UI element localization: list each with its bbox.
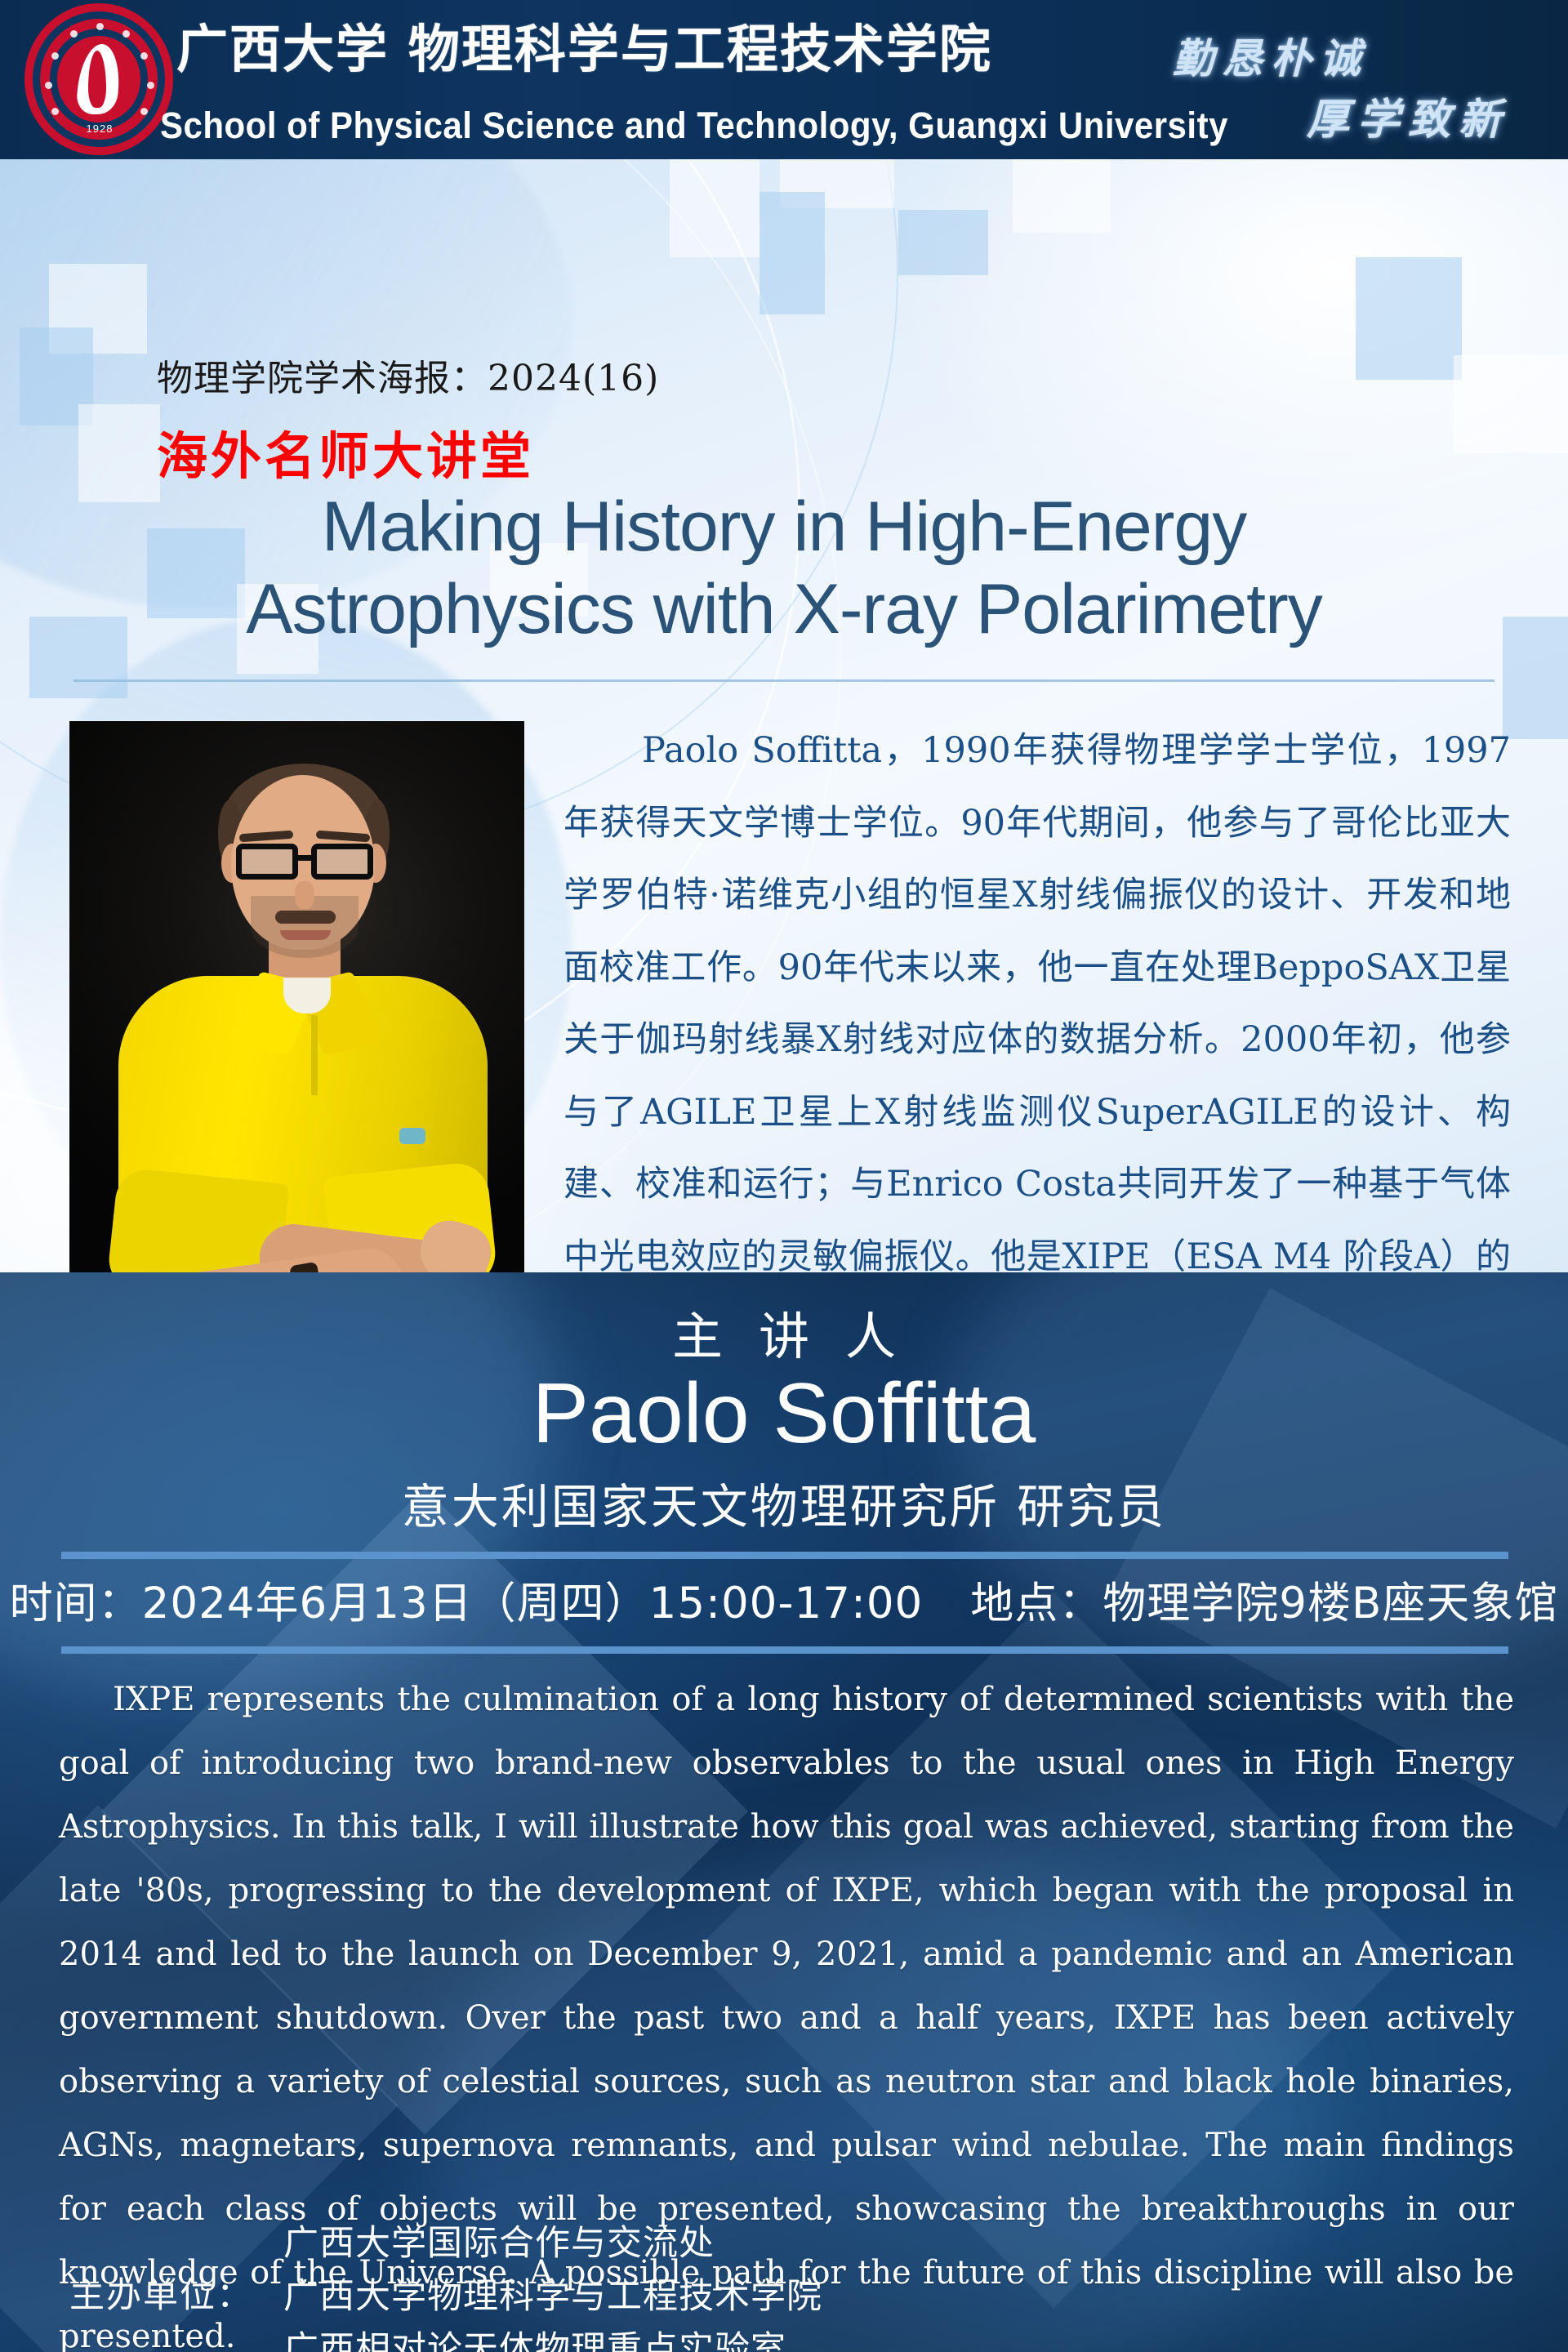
event-divider-bottom [61,1646,1508,1654]
university-seal-logo: 1928 [24,3,173,155]
decorative-square [1356,257,1462,380]
organizers-label-text: 主办单位： [69,2267,283,2318]
organizer-item: 广西大学国际合作与交流处 [283,2221,822,2266]
academic-poster: 1928 广西大学 物理科学与工程技术学院 School of Physical… [0,0,1568,2352]
decorative-square [1454,355,1568,453]
university-name-cn: 广西大学 物理科学与工程技术学院 [176,8,992,82]
place-value: 物理学院9楼B座天象馆 [1102,1579,1558,1628]
speaker-bio-text: Paolo Soffitta，1990年获得物理学学士学位，1997年获得天文学… [563,730,1511,1278]
lecture-series-title: 海外名师大讲堂 [157,415,534,488]
organizers-block: 主办单位： 广西大学国际合作与交流处 广西大学物理科学与工程技术学院 广西相对论… [69,2221,1213,2352]
speaker-name: Paolo Soffitta [0,1365,1568,1463]
decorative-square [898,210,988,275]
university-motto: 勤恳朴诚 厚学致新 [1151,11,1560,150]
poster-header: 1928 广西大学 物理科学与工程技术学院 School of Physical… [0,0,1568,159]
speaker-photo [69,721,524,1278]
poster-number: 物理学院学术海报：2024(16) [157,349,659,401]
motto-line-1: 勤恳朴诚 [1173,26,1369,85]
decorative-square [759,192,825,314]
speaker-affiliation: 意大利国家天文物理研究所 研究员 [0,1468,1568,1537]
motto-line-2: 厚学致新 [1307,85,1509,146]
talk-title: Making History in High-Energy Astrophysi… [0,486,1568,650]
organizer-item: 广西大学物理科学与工程技术学院 [283,2274,822,2319]
decorative-square [1013,159,1111,233]
organizers-label: 主办单位： [69,2221,283,2318]
event-divider-top [61,1552,1508,1559]
event-time-place: 时间：2024年6月13日（周四）15:00-17:00地点：物理学院9楼B座天… [0,1569,1568,1631]
school-name-en: School of Physical Science and Technolog… [160,105,1228,147]
time-value: 2024年6月13日（周四）15:00-17:00 [142,1579,924,1628]
talk-title-line-2: Astrophysics with X-ray Polarimetry [0,568,1568,651]
speaker-section-label: 主讲人 [0,1295,1568,1369]
decorative-square [670,159,759,257]
university-name-cn-text: 广西大学 物理科学与工程技术学院 [176,20,992,79]
talk-title-line-1: Making History in High-Energy [0,486,1568,568]
organizer-item: 广西相对论天体物理重点实验室 [283,2327,822,2352]
seal-year-label: 1928 [70,122,129,135]
organizers-list: 广西大学国际合作与交流处 广西大学物理科学与工程技术学院 广西相对论天体物理重点… [283,2221,822,2352]
poster-upper-section: 物理学院学术海报：2024(16) 海外名师大讲堂 Making History… [0,159,1568,1278]
speaker-bio: Paolo Soffitta，1990年获得物理学学士学位，1997年获得天文学… [563,715,1511,1278]
time-label: 时间： [10,1579,142,1628]
place-label: 地点： [970,1579,1102,1628]
title-divider [73,679,1494,682]
